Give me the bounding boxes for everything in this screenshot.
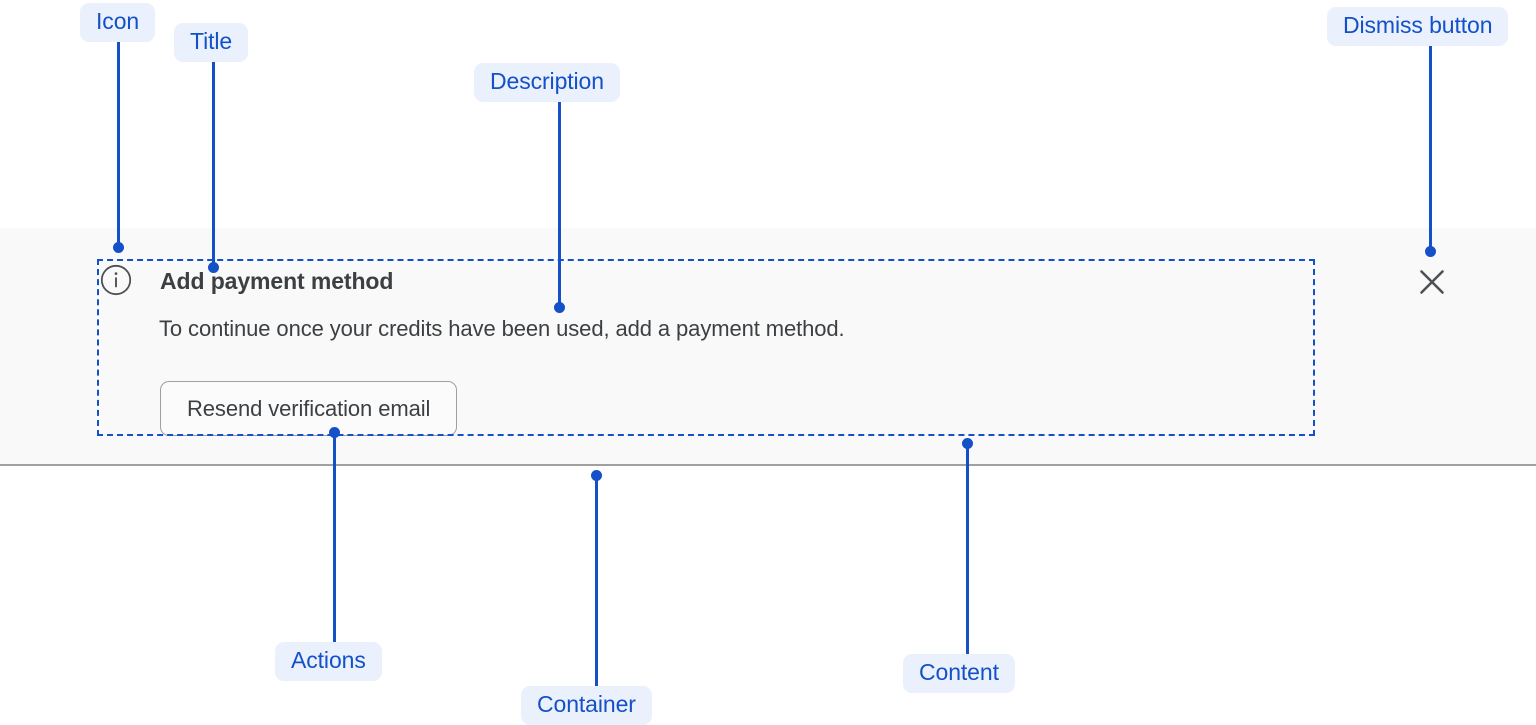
annotation-line-dismiss-button xyxy=(1429,44,1432,254)
resend-verification-email-button[interactable]: Resend verification email xyxy=(160,381,457,436)
info-circle-icon xyxy=(100,264,132,296)
annotation-line-icon xyxy=(117,40,120,250)
annotation-label-icon: Icon xyxy=(80,3,155,42)
banner-content: Add payment method To continue once your… xyxy=(97,259,1315,436)
banner-description: To continue once your credits have been … xyxy=(159,313,845,345)
annotation-line-actions xyxy=(333,436,336,643)
annotated-banner-diagram: Add payment method To continue once your… xyxy=(0,0,1536,724)
annotation-line-content xyxy=(966,445,969,655)
banner-title: Add payment method xyxy=(160,265,393,297)
annotation-label-content: Content xyxy=(903,654,1015,693)
annotation-label-dismiss-button: Dismiss button xyxy=(1327,7,1508,46)
annotation-label-title: Title xyxy=(174,23,248,62)
annotation-label-description: Description xyxy=(474,63,620,102)
annotation-line-container xyxy=(595,477,598,687)
close-icon xyxy=(1414,264,1450,300)
annotation-label-actions: Actions xyxy=(275,642,382,681)
annotation-label-container: Container xyxy=(521,686,652,725)
annotation-dot-container xyxy=(591,470,602,481)
banner-actions: Resend verification email xyxy=(160,381,457,436)
dismiss-button[interactable] xyxy=(1414,264,1450,300)
